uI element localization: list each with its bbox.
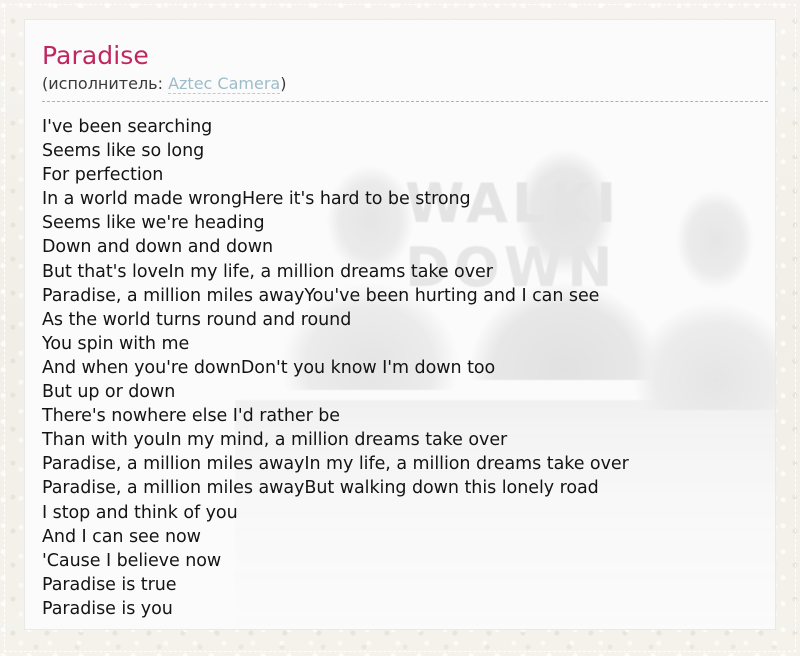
- lyric-line: Paradise, a million miles awayBut walkin…: [42, 476, 759, 500]
- lyric-line: As the world turns round and round: [42, 308, 759, 332]
- lyric-line: In a world made wrongHere it's hard to b…: [42, 187, 759, 211]
- card-inner: Paradise (исполнитель: Aztec Camera) I'v…: [25, 20, 775, 621]
- lyric-line: Paradise, a million miles awayIn my life…: [42, 452, 759, 476]
- artist-attribution-line: (исполнитель: Aztec Camera): [42, 73, 768, 102]
- lyric-line: Than with youIn my mind, a million dream…: [42, 428, 759, 452]
- lyric-line: For perfection: [42, 163, 759, 187]
- page-title: Paradise: [42, 41, 759, 71]
- lyric-line: Paradise is you: [42, 597, 759, 621]
- artist-prefix-label: (исполнитель:: [42, 74, 168, 93]
- lyric-line: Seems like so long: [42, 139, 759, 163]
- lyric-line: You spin with me: [42, 332, 759, 356]
- page-frame: WALKI DOWN Paradise (исполнитель: Aztec …: [0, 0, 800, 656]
- lyric-line: But up or down: [42, 380, 759, 404]
- artist-suffix-label: ): [280, 74, 286, 93]
- lyric-line: I stop and think of you: [42, 501, 759, 525]
- artist-link[interactable]: Aztec Camera: [168, 74, 280, 94]
- lyric-line: And when you're downDon't you know I'm d…: [42, 356, 759, 380]
- lyric-line: But that's loveIn my life, a million dre…: [42, 260, 759, 284]
- lyrics-text-block: I've been searchingSeems like so longFor…: [42, 102, 759, 621]
- lyric-line: There's nowhere else I'd rather be: [42, 404, 759, 428]
- lyric-line: I've been searching: [42, 115, 759, 139]
- lyric-line: Paradise, a million miles awayYou've bee…: [42, 284, 759, 308]
- lyric-line: And I can see now: [42, 525, 759, 549]
- lyric-line: Paradise is true: [42, 573, 759, 597]
- lyric-line: 'Cause I believe now: [42, 549, 759, 573]
- lyric-line: Seems like we're heading: [42, 211, 759, 235]
- lyric-line: Down and down and down: [42, 235, 759, 259]
- lyrics-content-card: WALKI DOWN Paradise (исполнитель: Aztec …: [24, 19, 776, 630]
